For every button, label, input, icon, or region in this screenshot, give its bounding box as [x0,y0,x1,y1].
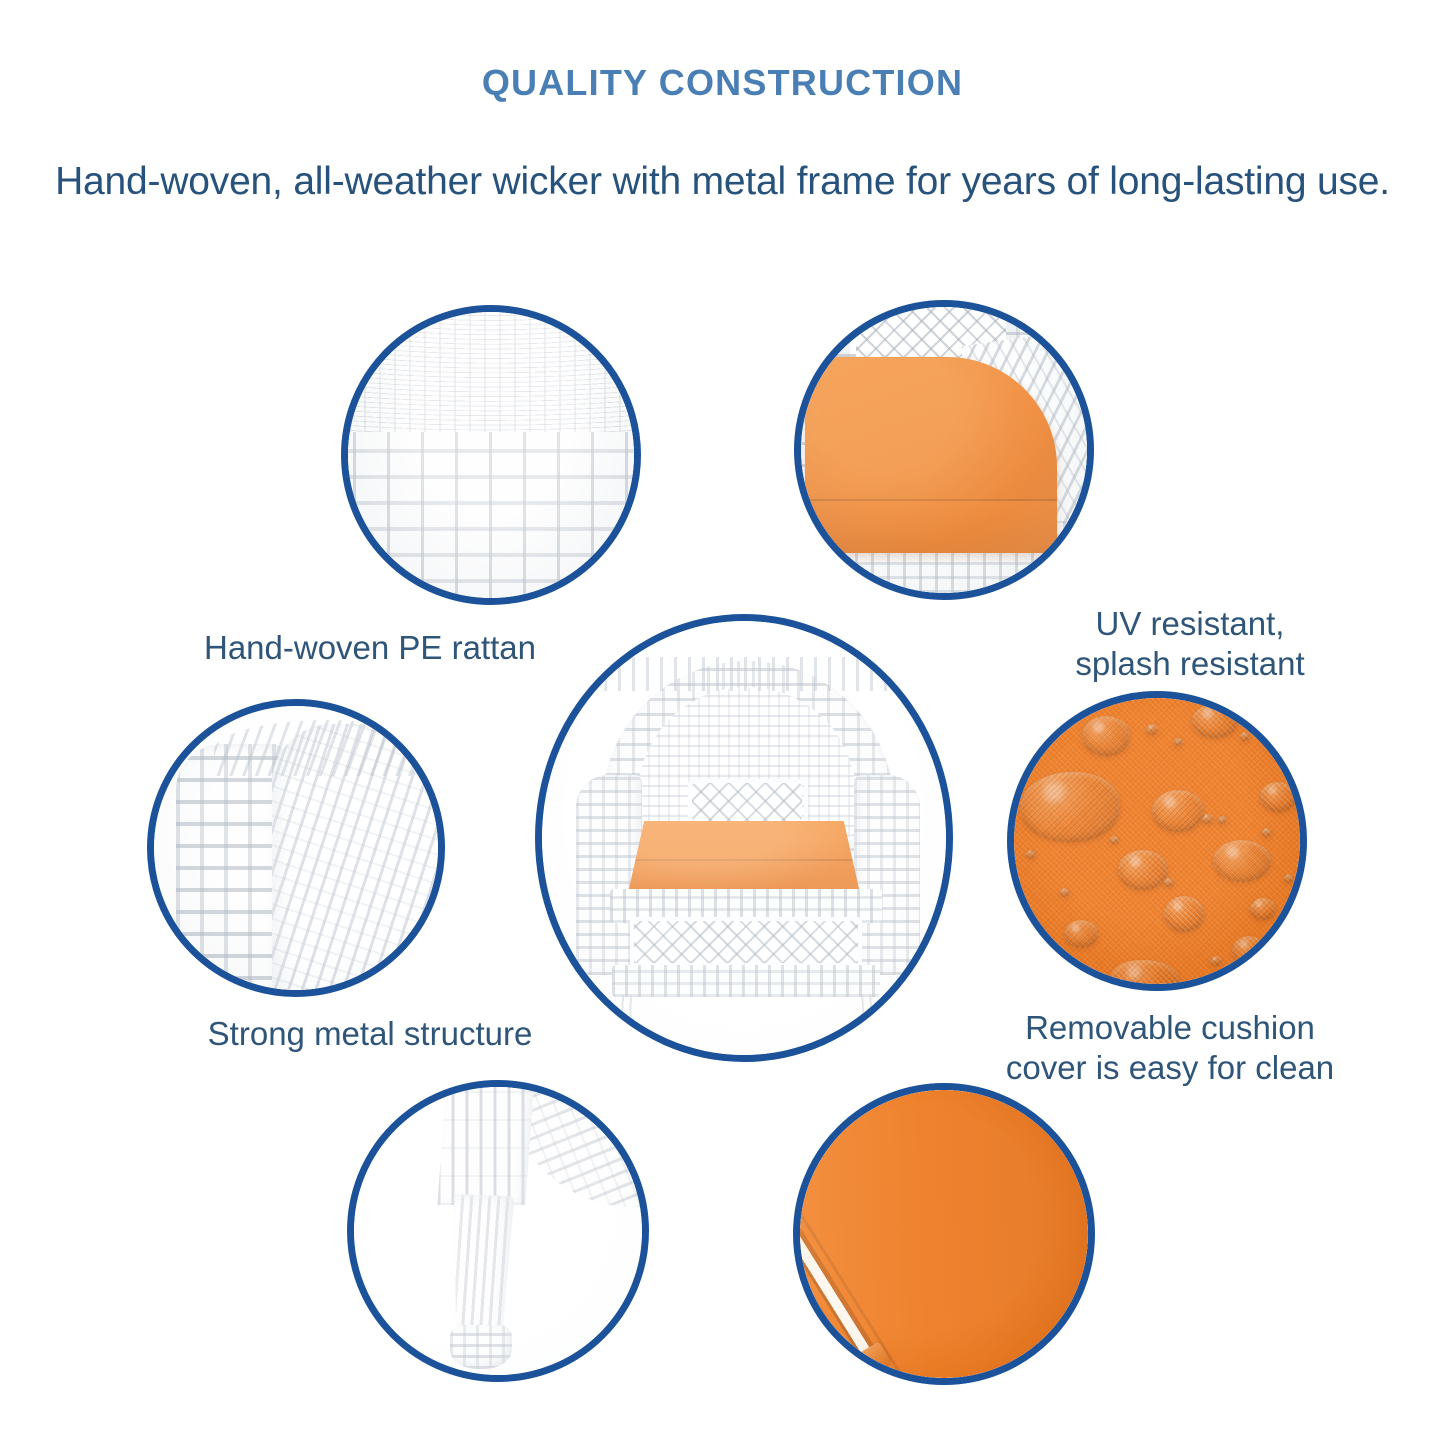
chair-bottom-rail [612,965,880,997]
water-droplet-small [1164,878,1174,887]
chair-arm-right [854,775,920,975]
water-droplet [1260,782,1296,812]
water-droplet-small [1218,816,1227,824]
water-droplet [1250,898,1276,920]
chair-top-rail [604,657,892,691]
zipper-photo [800,1090,1088,1378]
wicker-basket-weave [348,432,634,598]
water-droplet-small [1240,732,1250,741]
page-title: QUALITY CONSTRUCTION [0,62,1445,104]
chair-lattice-frame [688,779,808,825]
water-droplet-small [1284,874,1294,883]
caption-removable-cushion-cover: Removable cushion cover is easy for clea… [960,1008,1380,1088]
water-droplet-small [1262,828,1272,837]
chair-leg-upper [437,1087,534,1205]
caption-hand-woven-pe-rattan: Hand-woven PE rattan [130,628,610,668]
water-droplet [1213,840,1271,882]
full-chair-photo [542,621,946,1055]
feature-circle-zipper-detail [793,1083,1095,1385]
water-droplet-small [1026,850,1036,859]
water-droplet-small [1210,956,1222,966]
water-droplet [1164,896,1204,932]
orange-cushion [805,357,1057,553]
feature-circle-removable-cushion-cover [1007,691,1307,991]
chair-leg-foot [450,1325,512,1369]
feature-circle-uv-splash-resistant [794,300,1094,600]
feature-circle-full-product [535,614,953,1062]
feature-circle-chair-leg-detail [347,1080,649,1382]
armrest-photo [154,706,438,990]
water-droplet-small [1146,724,1158,735]
armrest-top-edge [214,720,424,776]
water-droplet [1118,850,1168,890]
armrest-left-face [176,744,284,990]
water-droplets-photo [1014,698,1300,984]
water-droplet-small [1110,836,1119,844]
feature-circle-hand-woven-pe-rattan [341,305,641,605]
water-droplet [1152,790,1204,832]
infographic-canvas: QUALITY CONSTRUCTION Hand-woven, all-wea… [0,0,1445,1445]
water-droplet [1232,936,1266,966]
chair-front-lattice-frame [630,917,862,967]
water-droplet [1192,704,1238,738]
water-droplet-small [1202,814,1213,824]
cushion-on-chair-photo [801,307,1087,593]
rattan-photo [348,312,634,598]
water-droplet [1064,920,1098,948]
caption-uv-splash-resistant: UV resistant, splash resistant [1000,604,1380,684]
water-droplet [1020,772,1120,842]
water-droplet-small [1060,888,1070,897]
chair-leg-photo [354,1087,642,1375]
water-droplet [1082,716,1130,756]
seat-cushion [628,821,860,893]
water-droplet-small [1174,738,1183,746]
page-subtitle: Hand-woven, all-weather wicker with meta… [0,160,1445,204]
feature-circle-strong-metal-structure [147,699,445,997]
cushion-body [800,1090,1088,1378]
